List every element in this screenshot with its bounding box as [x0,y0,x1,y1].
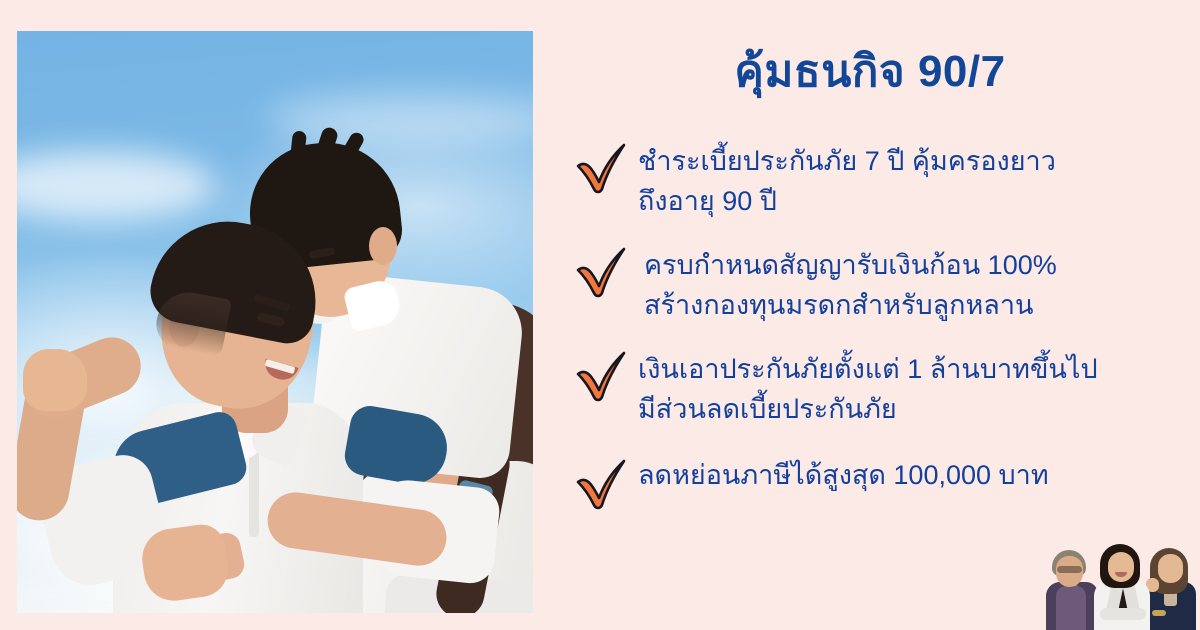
list-item-label: ครบกำหนดสัญญารับเงินก้อน 100% สร้างกองทุ… [638,240,1057,326]
agent-center-arms [1100,608,1146,620]
agents-photo [1046,534,1196,630]
check-mark-icon [574,140,632,196]
list-item: ครบกำหนดสัญญารับเงินก้อน 100% สร้างกองทุ… [574,240,1200,326]
content-panel: คุ้มธนกิจ 90/7 ชำระเบี้ยประกันภัย 7 ปี ค… [560,0,1200,630]
agent-center-face [1108,552,1134,582]
agent-right-face [1158,554,1183,583]
check-mark-icon [574,348,632,404]
benefits-list: ชำระเบี้ยประกันภัย 7 ปี คุ้มครองยาว ถึงอ… [574,136,1200,514]
page-title: คุ้มธนกิจ 90/7 [560,48,1180,96]
list-item: ชำระเบี้ยประกันภัย 7 ปี คุ้มครองยาว ถึงอ… [574,136,1200,222]
list-item-label: ลดหย่อนภาษีได้สูงสุด 100,000 บาท [638,452,1049,496]
list-item: เงินเอาประกันภัยตั้งแต่ 1 ล้านบาทขึ้นไป … [574,344,1200,430]
promotional-banner: คุ้มธนกิจ 90/7 ชำระเบี้ยประกันภัย 7 ปี ค… [0,0,1200,630]
list-item-label: ชำระเบี้ยประกันภัย 7 ปี คุ้มครองยาว ถึงอ… [638,136,1056,222]
check-mark-icon [574,456,632,512]
agent-left-vest [1056,586,1086,630]
list-item-label: เงินเอาประกันภัยตั้งแต่ 1 ล้านบาทขึ้นไป … [638,344,1098,430]
family-group [17,31,533,613]
family-photo [17,31,533,613]
father-hand [23,349,87,411]
agent-left-glasses [1057,566,1082,573]
list-item: ลดหย่อนภาษีได้สูงสุด 100,000 บาท [574,452,1200,514]
agent-right-watch [1152,610,1166,616]
check-mark-icon [574,244,632,300]
boy-ear [369,227,397,265]
